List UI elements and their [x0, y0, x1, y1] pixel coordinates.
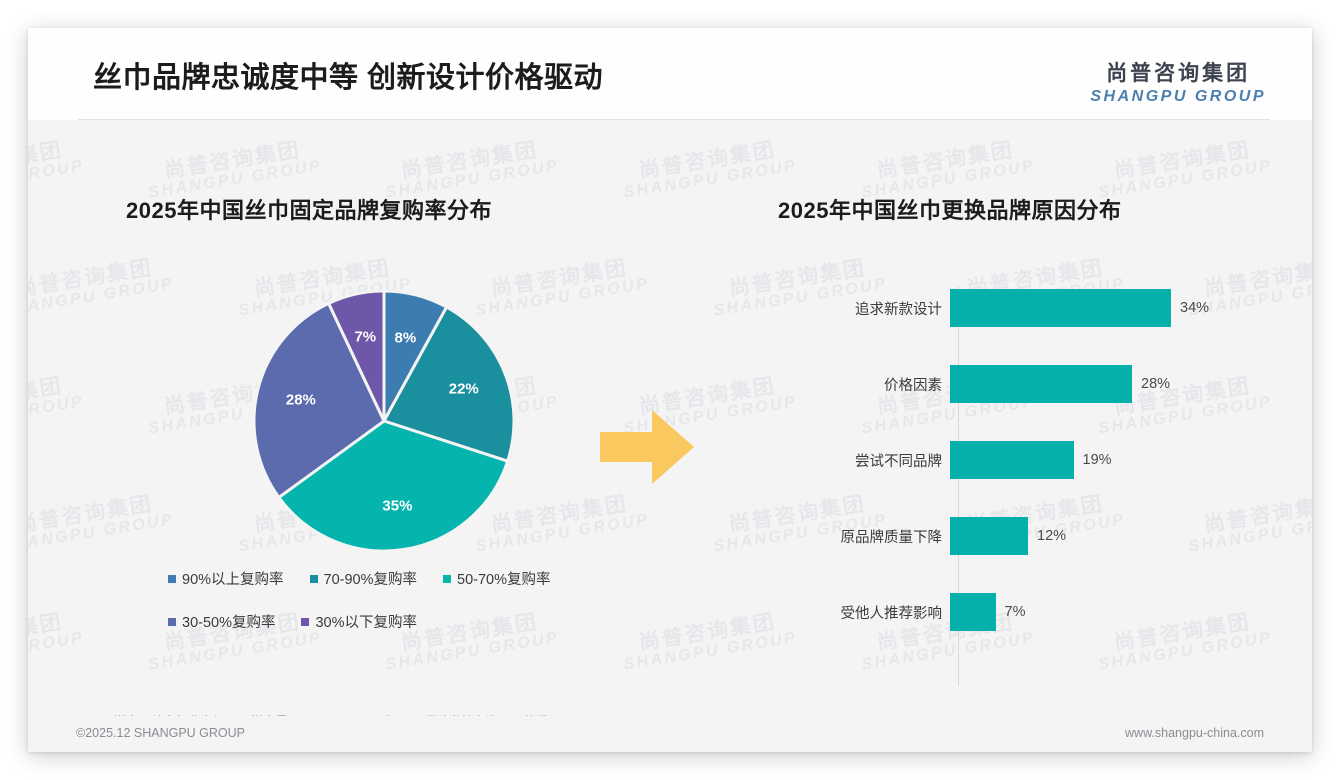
bar-fill[interactable] [950, 517, 1028, 555]
pie-chart: 8%22%35%28%7% [253, 290, 515, 552]
bar-value-label: 7% [1005, 604, 1026, 620]
bar-chart-row: 受他人推荐影响7% [788, 592, 1258, 632]
bar-value-label: 12% [1037, 528, 1066, 544]
legend-item[interactable]: 50-70%复购率 [443, 568, 550, 589]
legend-item[interactable]: 30-50%复购率 [168, 611, 275, 632]
slide-header: 丝巾品牌忠诚度中等 创新设计价格驱动 尚普咨询集团 SHANGPU GROUP [28, 28, 1312, 120]
bar-fill[interactable] [950, 593, 996, 631]
bar-chart-row: 尝试不同品牌19% [788, 440, 1258, 480]
legend-label: 50-70%复购率 [457, 568, 550, 589]
arrow-right-icon [600, 408, 696, 491]
pie-slice-label: 22% [449, 381, 479, 398]
brand-logo: 尚普咨询集团 SHANGPU GROUP [1090, 57, 1266, 106]
slide-canvas: 尚普咨询集团SHANGPU GROUP尚普咨询集团SHANGPU GROUP尚普… [28, 28, 1312, 752]
legend-swatch-icon [310, 575, 318, 583]
legend-swatch-icon [168, 618, 176, 626]
bar-chart-row: 原品牌质量下降12% [788, 516, 1258, 556]
legend-label: 30-50%复购率 [182, 611, 275, 632]
bar-value-label: 19% [1083, 452, 1112, 468]
pie-chart-title: 2025年中国丝巾固定品牌复购率分布 [126, 193, 492, 225]
legend-item[interactable]: 70-90%复购率 [310, 568, 417, 589]
footer-website: www.shangpu-china.com [1125, 726, 1264, 740]
bar-category-label: 受他人推荐影响 [788, 602, 950, 623]
legend-label: 70-90%复购率 [324, 568, 417, 589]
header-divider [78, 119, 1270, 120]
logo-english-text: SHANGPU GROUP [1090, 88, 1266, 106]
bar-category-label: 价格因素 [788, 374, 950, 395]
legend-swatch-icon [301, 618, 309, 626]
legend-swatch-icon [443, 575, 451, 583]
legend-label: 90%以上复购率 [182, 568, 284, 589]
page-title: 丝巾品牌忠诚度中等 创新设计价格驱动 [93, 54, 603, 96]
legend-swatch-icon [168, 575, 176, 583]
bar-value-label: 28% [1141, 376, 1170, 392]
bar-track: 7% [950, 592, 1258, 632]
pie-slice-label: 8% [394, 329, 416, 346]
bar-category-label: 追求新款设计 [788, 298, 950, 319]
bar-chart: 追求新款设计34%价格因素28%尝试不同品牌19%原品牌质量下降12%受他人推荐… [788, 278, 1258, 688]
pie-slice-label: 35% [382, 497, 412, 514]
bar-track: 28% [950, 364, 1258, 404]
bar-chart-row: 追求新款设计34% [788, 288, 1258, 328]
slide-footer: ©2025.12 SHANGPU GROUP www.shangpu-china… [28, 716, 1312, 752]
bar-chart-title: 2025年中国丝巾更换品牌原因分布 [778, 193, 1121, 225]
bar-track: 12% [950, 516, 1258, 556]
legend-row: 90%以上复购率70-90%复购率50-70%复购率 [168, 568, 598, 589]
pie-chart-legend: 90%以上复购率70-90%复购率50-70%复购率30-50%复购率30%以下… [168, 568, 598, 654]
footer-copyright: ©2025.12 SHANGPU GROUP [76, 726, 245, 740]
logo-chinese-text: 尚普咨询集团 [1090, 57, 1266, 87]
slide-body: 2025年中国丝巾固定品牌复购率分布 2025年中国丝巾更换品牌原因分布 8%2… [28, 28, 1312, 752]
bar-fill[interactable] [950, 441, 1074, 479]
pie-slice-label: 28% [286, 391, 316, 408]
bar-chart-row: 价格因素28% [788, 364, 1258, 404]
legend-row: 30-50%复购率30%以下复购率 [168, 611, 598, 632]
bar-track: 19% [950, 440, 1258, 480]
bar-fill[interactable] [950, 365, 1132, 403]
bar-category-label: 原品牌质量下降 [788, 526, 950, 547]
bar-track: 34% [950, 288, 1258, 328]
legend-item[interactable]: 30%以下复购率 [301, 611, 417, 632]
pie-slice-label: 7% [354, 329, 376, 346]
bar-fill[interactable] [950, 289, 1171, 327]
bar-value-label: 34% [1180, 300, 1209, 316]
bar-category-label: 尝试不同品牌 [788, 450, 950, 471]
legend-item[interactable]: 90%以上复购率 [168, 568, 284, 589]
legend-label: 30%以下复购率 [315, 611, 417, 632]
